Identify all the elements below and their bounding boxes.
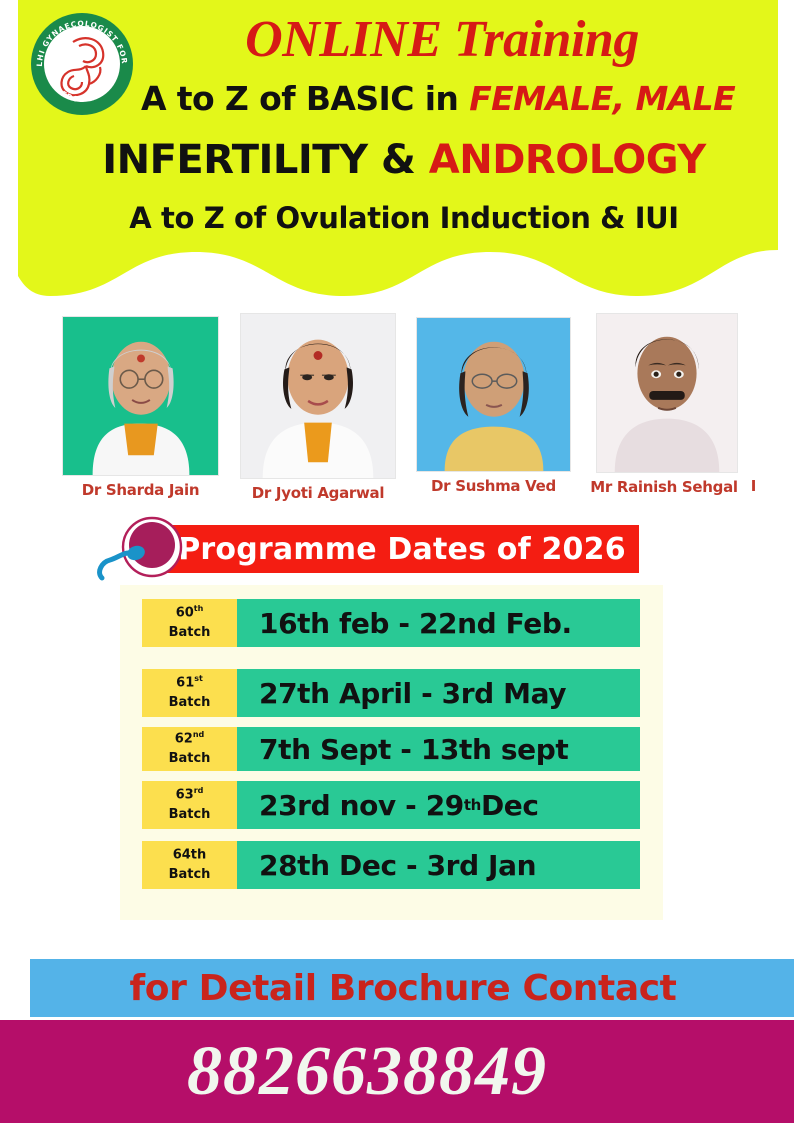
faculty-card: Mr Rainish Sehgal I [596,313,738,496]
header-banner: DELHI GYNAECOLOGIST FORUM KNOWLEDGE & SE… [18,0,778,302]
programme-dates-label: Programme Dates of 2026 [178,532,626,567]
batch-schedule-table: 60th Batch 16th feb - 22nd Feb. 61st Bat… [120,585,663,920]
batch-number-cell: 63rd Batch [142,781,237,829]
poster-subtitle-1: A to Z of BASIC in FEMALE, MALE [18,82,794,115]
poster-title-online: ONLINE Training [18,14,794,66]
table-row: 64th Batch 28th Dec - 3rd Jan [142,841,640,889]
faculty-card: Dr Sushma Ved [416,317,571,495]
batch-number-text: 62nd [175,729,205,749]
programme-dates-banner: Programme Dates of 2026 [165,525,639,573]
batch-date-text: 23rd nov - 29 [259,789,464,822]
batch-date-text: 7th Sept - 13th sept [259,733,568,766]
portrait-illustration [63,317,218,475]
phone-number[interactable]: 8826638849 [187,1037,607,1107]
batch-date-post: Dec [481,789,539,822]
table-row: 63rd Batch 23rd nov - 29th Dec [142,781,640,829]
portrait-illustration [597,314,737,472]
batch-date-cell: 7th Sept - 13th sept [237,727,640,771]
batch-number-cell: 61st Batch [142,669,237,717]
batch-date-text: 28th Dec - 3rd Jan [259,849,536,882]
faculty-photo [416,317,571,472]
faculty-name: Dr Sharda Jain [62,481,219,499]
batch-number-cell: 64th Batch [142,841,237,889]
faculty-name: Mr Rainish Sehgal I [590,478,738,496]
batch-word-text: Batch [169,694,211,713]
batch-number-text: 61st [176,673,203,693]
batch-number-cell: 60th Batch [142,599,237,647]
subtitle2-plain-text: INFERTILITY & [102,137,429,183]
batch-date-cell: 28th Dec - 3rd Jan [237,841,640,889]
batch-number-text: 64th [173,845,207,865]
batch-word-text: Batch [169,806,211,825]
batch-date-cell: 27th April - 3rd May [237,669,640,717]
batch-number-text: 60th [176,603,204,623]
batch-date-text: 27th April - 3rd May [259,677,566,710]
batch-word-text: Batch [169,624,211,643]
batch-date-sup: th [464,796,481,814]
batch-number-cell: 62nd Batch [142,727,237,771]
faculty-photo [62,316,219,476]
table-row: 62nd Batch 7th Sept - 13th sept [142,727,640,771]
poster-subtitle-3: A to Z of Ovulation Induction & IUI [18,204,784,233]
faculty-row: Dr Sharda Jain Dr Jyoti Agarwal [0,310,794,500]
batch-date-cell: 16th feb - 22nd Feb. [237,599,640,647]
contact-label: for Detail Brochure Contact [130,968,695,1009]
table-row: 60th Batch 16th feb - 22nd Feb. [142,599,640,647]
faculty-photo [240,313,396,479]
faculty-name: Dr Sushma Ved [416,477,571,495]
batch-date-text: 16th feb - 22nd Feb. [259,607,572,640]
faculty-card: Dr Jyoti Agarwal [240,313,396,502]
phone-bar[interactable]: 8826638849 [0,1020,794,1123]
faculty-card: Dr Sharda Jain [62,316,219,499]
batch-word-text: Batch [169,750,211,769]
batch-date-cell: 23rd nov - 29th Dec [237,781,640,829]
portrait-illustration [241,314,395,478]
faculty-photo [596,313,738,473]
subtitle-highlight-text: FEMALE, MALE [469,79,735,118]
subtitle2-highlight-text: ANDROLOGY [429,137,706,183]
table-row: 61st Batch 27th April - 3rd May [142,669,640,717]
batch-word-text: Batch [169,866,211,885]
faculty-name-suffix: I [751,477,756,495]
faculty-name-text: Mr Rainish Sehgal [590,478,738,496]
batch-number-text: 63rd [176,785,204,805]
subtitle-plain-text: A to Z of BASIC in [141,79,469,118]
fertilization-icon [88,514,196,590]
egg-and-sperm-icon [88,514,196,590]
poster-subtitle-2: INFERTILITY & ANDROLOGY [18,140,784,180]
contact-bar: for Detail Brochure Contact [30,959,794,1017]
portrait-illustration [417,318,570,471]
faculty-name: Dr Jyoti Agarwal [240,484,396,502]
